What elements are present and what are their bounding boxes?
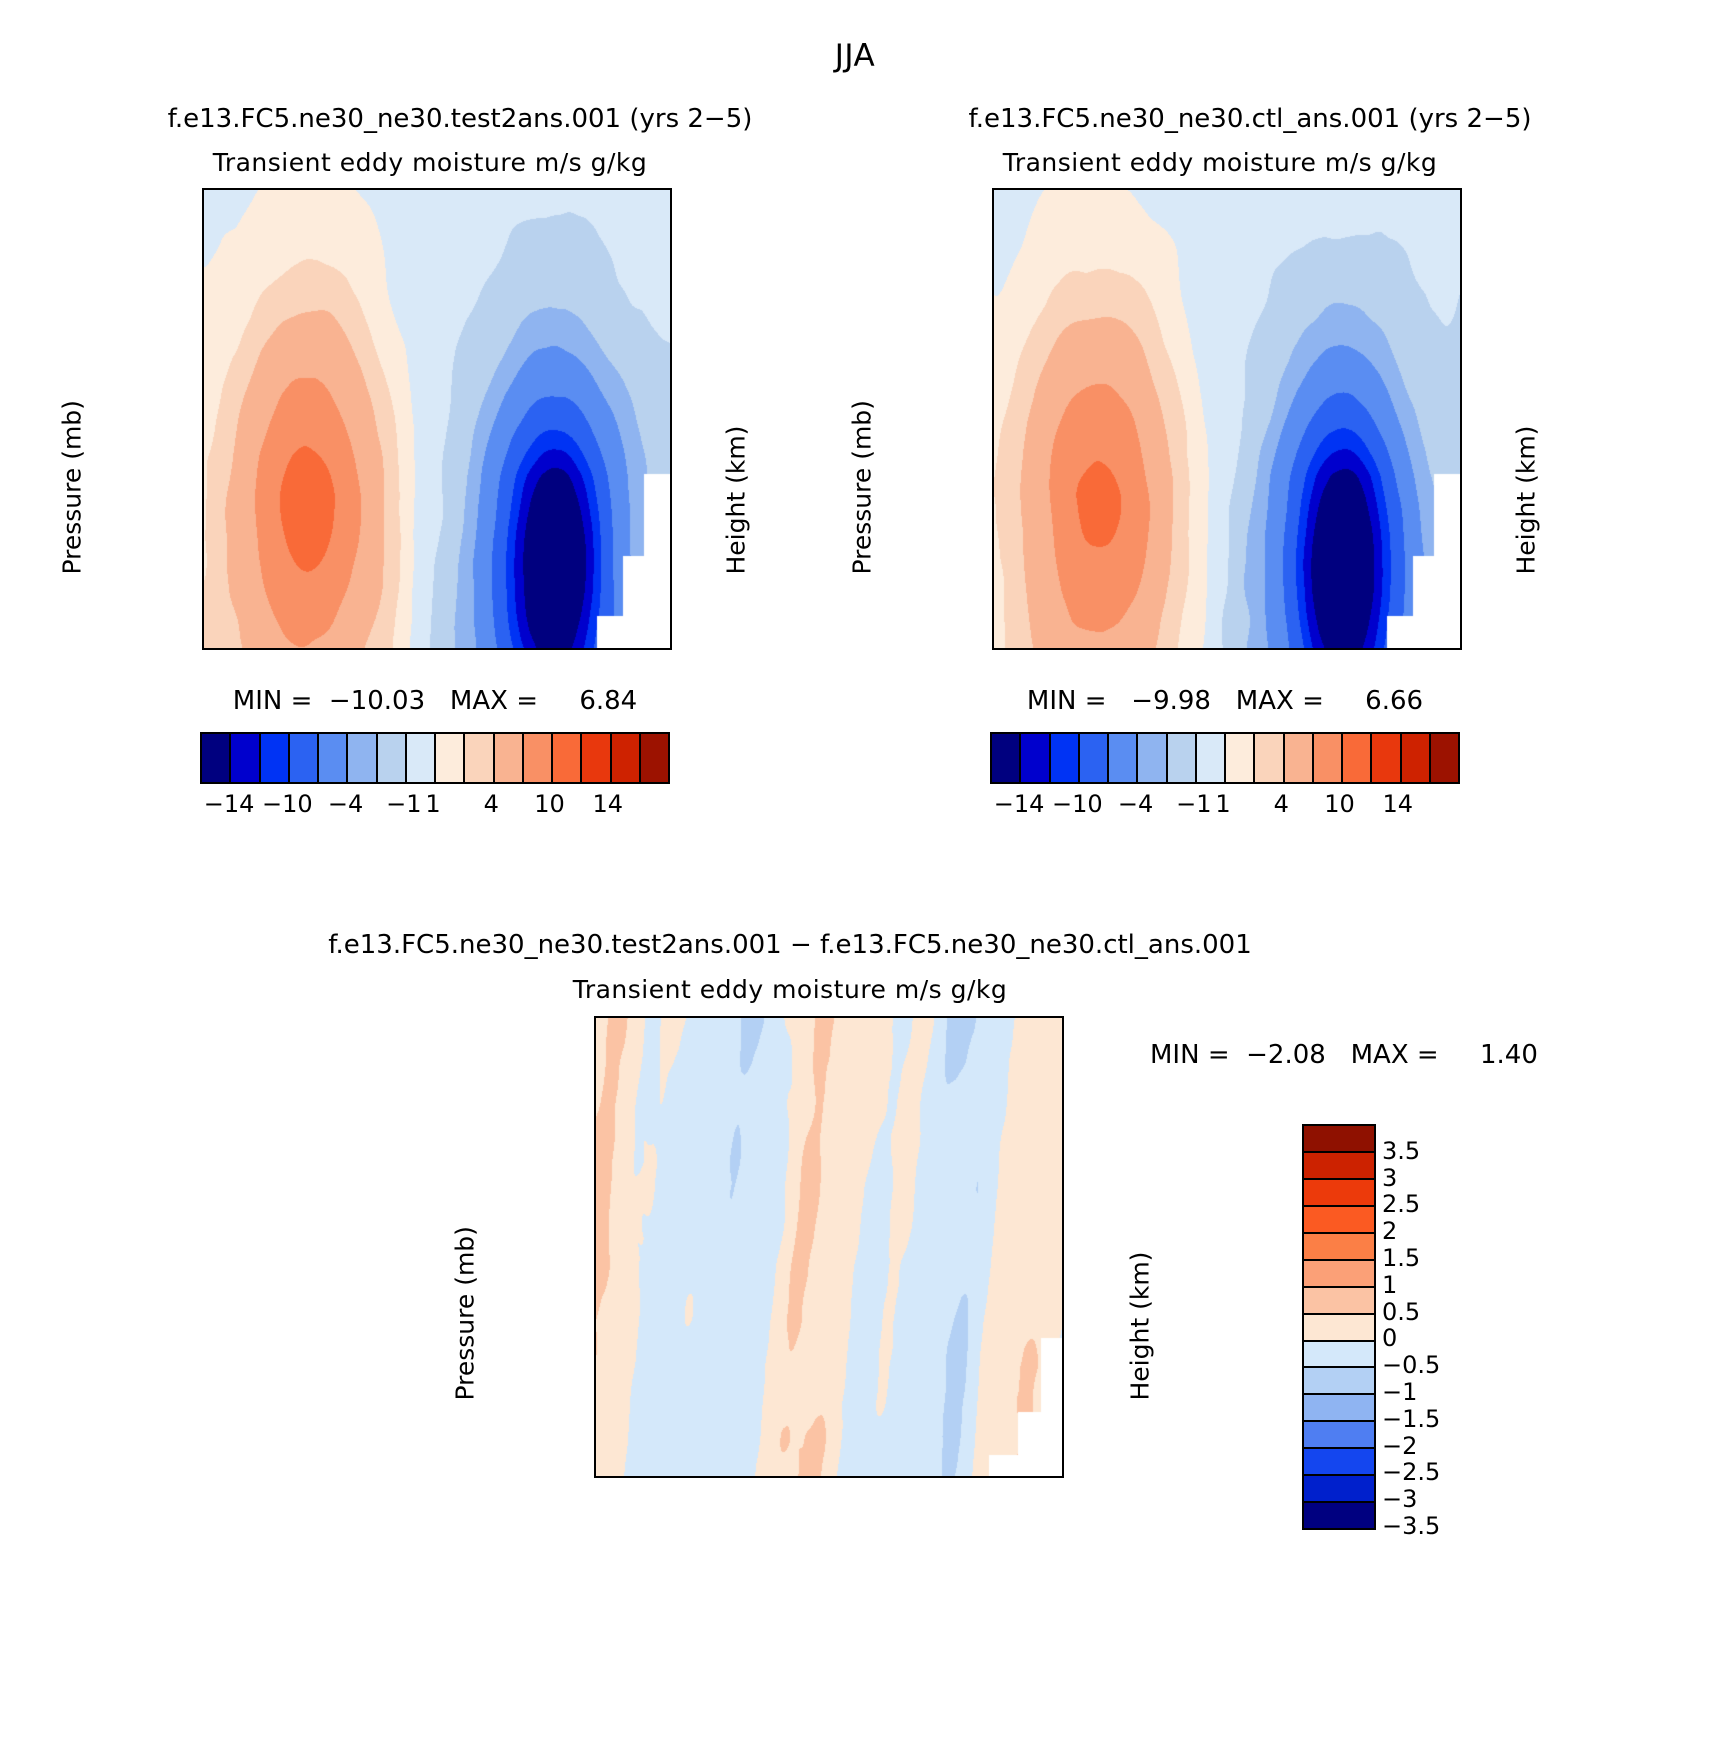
colorbar-swatch (465, 734, 494, 782)
y-tick-minor (202, 543, 204, 546)
y-tick-minor (202, 245, 204, 248)
x-tick-minor (539, 188, 542, 190)
diff-panel-case-title: f.e13.FC5.ne30_ne30.test2ans.001 − f.e13… (205, 930, 1375, 960)
y-tick-minor (992, 485, 994, 488)
colorbar-swatch (1138, 734, 1167, 782)
y-tick-minor (594, 1313, 596, 1316)
y-tick-minor (594, 1457, 596, 1460)
x-tick-minor (1278, 648, 1281, 650)
y-tick-minor (992, 344, 994, 347)
y-tick-minor (992, 420, 994, 423)
colorbar-tick-label: 14 (1382, 790, 1413, 818)
colorbar-swatch (231, 734, 260, 782)
x-tick-minor (539, 648, 542, 650)
x-tick-minor (854, 1016, 857, 1018)
colorbar-swatch (1285, 734, 1314, 782)
y2-tick-major (1062, 1292, 1064, 1295)
colorbar-tick-label: −14 (994, 790, 1045, 818)
colorbar-swatch (553, 734, 582, 782)
x-tick-minor (565, 648, 568, 650)
colorbar-tick-label: 10 (1324, 790, 1355, 818)
y-tick-major (202, 300, 204, 303)
x-tick-minor (1407, 648, 1410, 650)
y-tick-minor (992, 452, 994, 455)
colorbar-swatch (1304, 1368, 1374, 1395)
colorbar-swatch (1304, 1342, 1374, 1369)
y-tick-minor (594, 1172, 596, 1175)
y-tick-minor (594, 1395, 596, 1398)
x-tick-major (1148, 648, 1151, 650)
x-tick-minor (384, 648, 387, 650)
right-panel-colorbar (990, 732, 1460, 784)
left-panel-ylabel: Pressure (mb) (58, 295, 87, 575)
colorbar-swatch (1226, 734, 1255, 782)
x-tick-minor (488, 648, 491, 650)
y-tick-minor (202, 344, 204, 347)
y2-tick-major (1460, 265, 1462, 268)
colorbar-swatch (495, 734, 524, 782)
x-tick-minor (698, 1016, 701, 1018)
x-tick-major (669, 648, 672, 650)
x-tick-major (993, 648, 996, 650)
x-tick-minor (880, 1476, 883, 1478)
y2-tick-major (1062, 1093, 1064, 1096)
x-tick-major (1070, 648, 1073, 650)
y-tick-major (202, 592, 204, 595)
x-tick-major (750, 1016, 753, 1018)
colorbar-swatch (407, 734, 436, 782)
x-tick-major (1303, 188, 1306, 190)
left-panel-yrlabel: Height (km) (722, 295, 751, 575)
x-tick-major (358, 188, 361, 190)
colorbar-swatch (290, 734, 319, 782)
x-tick-minor (1019, 188, 1022, 190)
colorbar-tick-label: −4 (1118, 790, 1153, 818)
x-tick-major (1061, 1016, 1064, 1018)
colorbar-swatch (1304, 1315, 1374, 1342)
left-panel-case-title: f.e13.FC5.ne30_ne30.test2ans.001 (yrs 2−… (60, 104, 860, 134)
x-tick-major (828, 1476, 831, 1478)
colorbar-swatch (1109, 734, 1138, 782)
colorbar-tick-label: −4 (328, 790, 363, 818)
colorbar-tick-label: 4 (484, 790, 499, 818)
x-tick-major (1381, 648, 1384, 650)
y-tick-minor (992, 629, 994, 632)
y2-tick-major (670, 464, 672, 467)
colorbar-swatch (348, 734, 377, 782)
right-panel-field (994, 190, 1460, 648)
x-tick-minor (1035, 1476, 1038, 1478)
x-tick-minor (229, 648, 232, 650)
colorbar-tick-label: −14 (204, 790, 255, 818)
colorbar-swatch (261, 734, 290, 782)
x-tick-minor (462, 648, 465, 650)
x-tick-major (358, 648, 361, 650)
right-panel-yrlabel: Height (km) (1512, 295, 1541, 575)
colorbar-swatch (992, 734, 1021, 782)
colorbar-swatch (1051, 734, 1080, 782)
x-tick-minor (802, 1016, 805, 1018)
y-tick-minor (202, 485, 204, 488)
colorbar-tick-label: 3 (1382, 1164, 1397, 1192)
colorbar-tick-label: 1.5 (1382, 1244, 1420, 1272)
x-tick-minor (931, 1016, 934, 1018)
colorbar-tick-label: −3.5 (1382, 1512, 1440, 1540)
x-tick-major (1226, 648, 1229, 650)
colorbar-tick-label: 0 (1382, 1324, 1397, 1352)
y-tick-major (992, 300, 994, 303)
y-tick-major (594, 1215, 596, 1218)
y-tick-minor (202, 629, 204, 632)
colorbar-tick-label: −1 (1382, 1378, 1417, 1406)
colorbar-tick-label: 14 (592, 790, 623, 818)
left-panel-minmax: MIN = −10.03 MAX = 6.84 (150, 686, 720, 716)
colorbar-swatch (641, 734, 668, 782)
x-tick-major (591, 648, 594, 650)
x-tick-minor (880, 1016, 883, 1018)
y-tick-major (594, 1346, 596, 1349)
y-tick-minor (992, 543, 994, 546)
colorbar-tick-label: −0.5 (1382, 1351, 1440, 1379)
x-tick-major (905, 1476, 908, 1478)
right-panel-minmax: MIN = −9.98 MAX = 6.66 (940, 686, 1510, 716)
x-tick-minor (1407, 188, 1410, 190)
x-tick-minor (776, 1016, 779, 1018)
x-tick-major (1226, 188, 1229, 190)
x-tick-minor (724, 1016, 727, 1018)
colorbar-tick-label: −1 (386, 790, 421, 818)
x-tick-minor (854, 1476, 857, 1478)
x-tick-major (1148, 188, 1151, 190)
y-tick-minor (202, 567, 204, 570)
colorbar-swatch (1304, 1422, 1374, 1449)
diff-panel-plot: 30040050070085010008490N60N30N030S60S90S (594, 1016, 1064, 1478)
x-tick-minor (802, 1476, 805, 1478)
diff-panel-colorbar (1302, 1124, 1376, 1530)
x-tick-major (983, 1016, 986, 1018)
colorbar-swatch (1431, 734, 1458, 782)
x-tick-minor (643, 188, 646, 190)
y2-tick-major (1460, 464, 1462, 467)
x-tick-minor (617, 648, 620, 650)
x-tick-major (993, 188, 996, 190)
colorbar-tick-label: −10 (1052, 790, 1103, 818)
x-tick-minor (1200, 648, 1203, 650)
colorbar-swatch (378, 734, 407, 782)
colorbar-swatch (1168, 734, 1197, 782)
x-tick-major (436, 188, 439, 190)
x-tick-minor (1045, 648, 1048, 650)
x-tick-minor (647, 1016, 650, 1018)
y-tick-minor (594, 1438, 596, 1441)
left-panel-variable-title: Transient eddy moisture m/s g/kg (100, 148, 760, 177)
colorbar-swatch (1021, 734, 1050, 782)
x-tick-major (983, 1476, 986, 1478)
figure-season-title: JJA (0, 38, 1710, 74)
x-tick-major (1061, 1476, 1064, 1478)
colorbar-swatch (202, 734, 231, 782)
x-tick-minor (229, 188, 232, 190)
x-tick-minor (410, 188, 413, 190)
y-tick-minor (202, 452, 204, 455)
x-tick-major (750, 1476, 753, 1478)
x-tick-major (280, 188, 283, 190)
colorbar-swatch (524, 734, 553, 782)
colorbar-tick-label: 1 (1382, 1271, 1397, 1299)
y-tick-major (202, 387, 204, 390)
diff-panel-variable-title: Transient eddy moisture m/s g/kg (475, 975, 1105, 1004)
colorbar-swatch (1304, 1288, 1374, 1315)
left-panel-colorbar (200, 732, 670, 784)
colorbar-swatch (1197, 734, 1226, 782)
x-tick-minor (957, 1016, 960, 1018)
x-tick-minor (698, 1476, 701, 1478)
y-tick-major (202, 518, 204, 521)
x-tick-minor (384, 188, 387, 190)
colorbar-tick-label: −2.5 (1382, 1458, 1440, 1486)
x-tick-major (1459, 188, 1462, 190)
x-tick-minor (1122, 648, 1125, 650)
x-tick-minor (1252, 188, 1255, 190)
x-tick-minor (724, 1476, 727, 1478)
x-tick-minor (1096, 648, 1099, 650)
x-tick-minor (1433, 648, 1436, 650)
left-panel-field (204, 190, 670, 648)
x-tick-major (595, 1476, 598, 1478)
y-tick-major (992, 518, 994, 521)
right-panel-case-title: f.e13.FC5.ne30_ne30.ctl_ans.001 (yrs 2−5… (850, 104, 1650, 134)
x-tick-minor (410, 648, 413, 650)
x-tick-major (513, 188, 516, 190)
colorbar-swatch (1314, 734, 1343, 782)
colorbar-swatch (1080, 734, 1109, 782)
x-tick-minor (488, 188, 491, 190)
colorbar-swatch (1402, 734, 1431, 782)
x-tick-minor (332, 648, 335, 650)
x-tick-major (513, 648, 516, 650)
x-tick-minor (1045, 188, 1048, 190)
x-tick-minor (1329, 648, 1332, 650)
colorbar-tick-label: 10 (534, 790, 565, 818)
x-tick-major (280, 648, 283, 650)
x-tick-major (672, 1476, 675, 1478)
colorbar-swatch (1304, 1234, 1374, 1261)
y-tick-major (594, 1128, 596, 1131)
y-tick-major (992, 592, 994, 595)
x-tick-minor (1035, 1016, 1038, 1018)
y-tick-minor (202, 420, 204, 423)
colorbar-swatch (1304, 1180, 1374, 1207)
y-tick-major (992, 387, 994, 390)
x-tick-major (1381, 188, 1384, 190)
x-tick-minor (647, 1476, 650, 1478)
colorbar-swatch (1304, 1207, 1374, 1234)
diff-panel-yrlabel: Height (km) (1126, 1121, 1155, 1401)
x-tick-minor (1329, 188, 1332, 190)
colorbar-tick-label: −10 (262, 790, 313, 818)
colorbar-tick-label: 1 (1215, 790, 1230, 818)
colorbar-tick-label: −2 (1382, 1432, 1417, 1460)
x-tick-minor (1252, 648, 1255, 650)
x-tick-major (669, 188, 672, 190)
x-tick-major (672, 1016, 675, 1018)
y-tick-minor (992, 245, 994, 248)
right-panel-variable-title: Transient eddy moisture m/s g/kg (890, 148, 1550, 177)
colorbar-tick-label: 4 (1274, 790, 1289, 818)
y-tick-minor (594, 1073, 596, 1076)
right-panel-colorbar-labels: −14−10−4−1141014 (990, 790, 1456, 820)
y-tick-minor (992, 610, 994, 613)
x-tick-minor (1174, 648, 1177, 650)
x-tick-minor (1009, 1016, 1012, 1018)
colorbar-tick-label: 2 (1382, 1217, 1397, 1245)
x-tick-minor (565, 188, 568, 190)
colorbar-swatch (319, 734, 348, 782)
x-tick-minor (1355, 648, 1358, 650)
colorbar-tick-label: 0.5 (1382, 1298, 1420, 1326)
colorbar-swatch (1304, 1476, 1374, 1503)
x-tick-minor (621, 1476, 624, 1478)
x-tick-minor (255, 188, 258, 190)
x-tick-minor (1433, 188, 1436, 190)
x-tick-minor (1019, 648, 1022, 650)
diff-panel-ylabel: Pressure (mb) (451, 1121, 480, 1401)
x-tick-minor (1355, 188, 1358, 190)
colorbar-swatch (1304, 1126, 1374, 1153)
x-tick-minor (617, 188, 620, 190)
x-tick-minor (1122, 188, 1125, 190)
x-tick-major (591, 188, 594, 190)
right-panel-ylabel: Pressure (mb) (848, 295, 877, 575)
x-tick-minor (306, 648, 309, 650)
left-panel-colorbar-labels: −14−10−4−1141014 (200, 790, 666, 820)
colorbar-tick-label: 3.5 (1382, 1137, 1420, 1165)
colorbar-swatch (612, 734, 641, 782)
diff-panel-minmax: MIN = −2.08 MAX = 1.40 (1150, 1040, 1670, 1070)
colorbar-tick-label: 2.5 (1382, 1190, 1420, 1218)
x-tick-major (1303, 648, 1306, 650)
x-tick-minor (462, 188, 465, 190)
diff-panel-colorbar-labels: 3.532.521.510.50−0.5−1−1.5−2−2.5−3−3.5 (1382, 1124, 1522, 1526)
colorbar-swatch (436, 734, 465, 782)
x-tick-major (1459, 648, 1462, 650)
y-tick-minor (202, 610, 204, 613)
colorbar-swatch (1304, 1153, 1374, 1180)
x-tick-minor (255, 648, 258, 650)
colorbar-tick-label: −1 (1176, 790, 1211, 818)
y2-tick-major (670, 265, 672, 268)
x-tick-minor (1096, 188, 1099, 190)
x-tick-major (1070, 188, 1073, 190)
x-tick-minor (1174, 188, 1177, 190)
colorbar-tick-label: 1 (425, 790, 440, 818)
x-tick-minor (1278, 188, 1281, 190)
y-tick-minor (594, 1280, 596, 1283)
x-tick-minor (306, 188, 309, 190)
x-tick-major (203, 648, 206, 650)
right-panel-plot: 30040050070085010008490N60N30N030S60S90S (992, 188, 1462, 650)
colorbar-swatch (1372, 734, 1401, 782)
x-tick-major (595, 1016, 598, 1018)
diff-panel-field (596, 1018, 1062, 1476)
x-tick-major (436, 648, 439, 650)
colorbar-swatch (1343, 734, 1372, 782)
left-panel-plot: 30040050070085010008490N60N30N030S60S90S (202, 188, 672, 650)
x-tick-minor (643, 648, 646, 650)
x-tick-minor (1009, 1476, 1012, 1478)
y-tick-minor (992, 567, 994, 570)
x-tick-minor (957, 1476, 960, 1478)
x-tick-major (828, 1016, 831, 1018)
y-tick-minor (594, 1371, 596, 1374)
x-tick-minor (332, 188, 335, 190)
x-tick-major (905, 1016, 908, 1018)
colorbar-tick-label: −1.5 (1382, 1405, 1440, 1433)
y-tick-minor (594, 1248, 596, 1251)
colorbar-tick-label: −3 (1382, 1485, 1417, 1513)
x-tick-minor (931, 1476, 934, 1478)
colorbar-swatch (582, 734, 611, 782)
colorbar-swatch (1304, 1449, 1374, 1476)
x-tick-minor (1200, 188, 1203, 190)
y-tick-major (594, 1420, 596, 1423)
x-tick-minor (621, 1016, 624, 1018)
colorbar-swatch (1304, 1395, 1374, 1422)
colorbar-swatch (1255, 734, 1284, 782)
x-tick-minor (776, 1476, 779, 1478)
colorbar-swatch (1304, 1261, 1374, 1288)
x-tick-major (203, 188, 206, 190)
colorbar-swatch (1304, 1503, 1374, 1528)
